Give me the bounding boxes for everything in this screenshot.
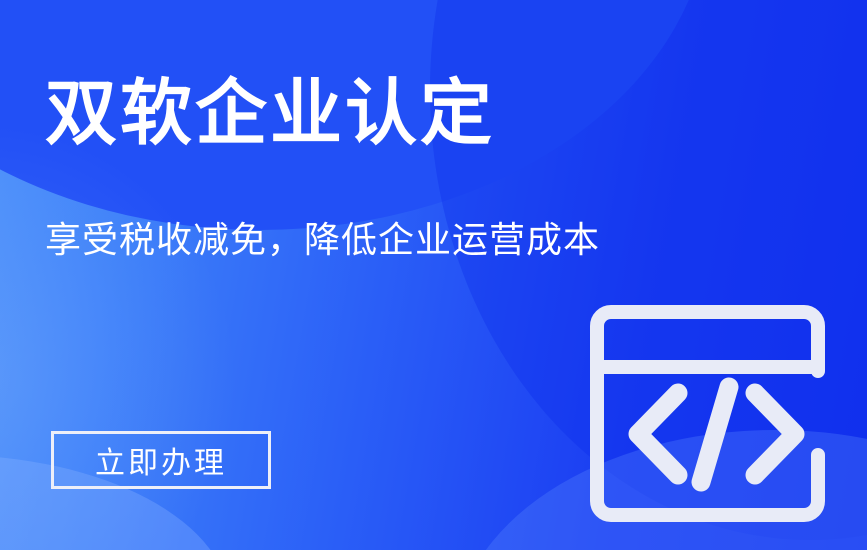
code-window-icon-svg [590,305,825,523]
right-angle-bracket-icon [755,393,795,475]
left-angle-bracket-icon [638,393,678,475]
banner-title: 双软企业认定 [45,78,495,150]
code-window-icon [590,305,825,523]
banner-subtitle: 享受税收减免，降低企业运营成本 [45,218,600,261]
promo-banner: 双软企业认定 享受税收减免，降低企业运营成本 立即办理 [0,0,867,550]
apply-now-button[interactable]: 立即办理 [51,431,271,489]
banner-content: 双软企业认定 享受税收减免，降低企业运营成本 立即办理 [0,0,867,550]
slash-icon [701,387,729,482]
